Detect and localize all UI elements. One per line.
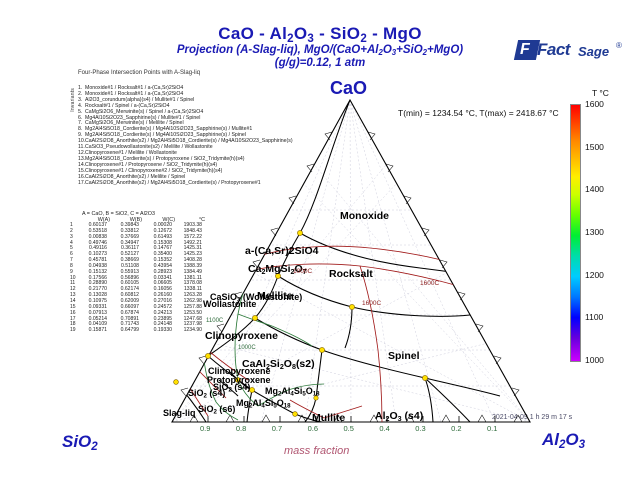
phase-label-clinopyroxene: Clinopyroxene [205, 330, 278, 342]
axis-tick-0.7: 0.7 [272, 424, 282, 433]
phase-label-mullite: Mullite [312, 412, 345, 424]
axis-label-mass-fraction: mass fraction [284, 445, 349, 457]
phase-label-slag-liq: Slag-liq [163, 408, 196, 418]
axis-tick-0.8: 0.8 [236, 424, 246, 433]
phase-label-rocksalt: Rocksalt [329, 268, 373, 280]
isotherm-label-1000C: 1000C [293, 268, 312, 275]
isotherm-label-1100C: 1100C [206, 318, 223, 324]
axis-ticks [208, 416, 495, 422]
bottom-axis-tick-labels: 0.90.80.70.60.50.40.30.20.1 [0, 424, 640, 436]
isotherm-label-1600C: 1600C [420, 280, 439, 287]
phase-label-al2o3-s4: Al2O3 (s4) [375, 410, 423, 423]
phase-label-sio2-s4: SiO2 (s4) [188, 388, 225, 400]
phase-label-wollastonite: Wollastonite [203, 299, 256, 309]
phase-label-sio2-s6: SiO2 (s6) [198, 404, 235, 416]
axis-tick-0.6: 0.6 [308, 424, 318, 433]
axis-tick-0.4: 0.4 [379, 424, 389, 433]
isotherm-label-1000C: 1000C [238, 345, 256, 351]
axis-tick-0.5: 0.5 [344, 424, 354, 433]
axis-tick-0.2: 0.2 [451, 424, 461, 433]
phase-label-mg2al4si5o18-a: Mg2Al4Si5O18 [265, 386, 320, 398]
axis-tick-0.3: 0.3 [415, 424, 425, 433]
isotherm-label-1600C: 1600C [362, 300, 381, 307]
phase-label-spinel: Spinel [388, 350, 420, 362]
phase-label-a-ca-sr-2sio4: a-(Ca,Sr)2SiO4 [245, 245, 319, 257]
axis-tick-0.1: 0.1 [487, 424, 497, 433]
axis-tick-0.9: 0.9 [200, 424, 210, 433]
phase-label-mg2al4si5o18-b: Mg2Al4Si5O18 [236, 398, 291, 410]
phase-label-monoxide: Monoxide [340, 210, 389, 222]
